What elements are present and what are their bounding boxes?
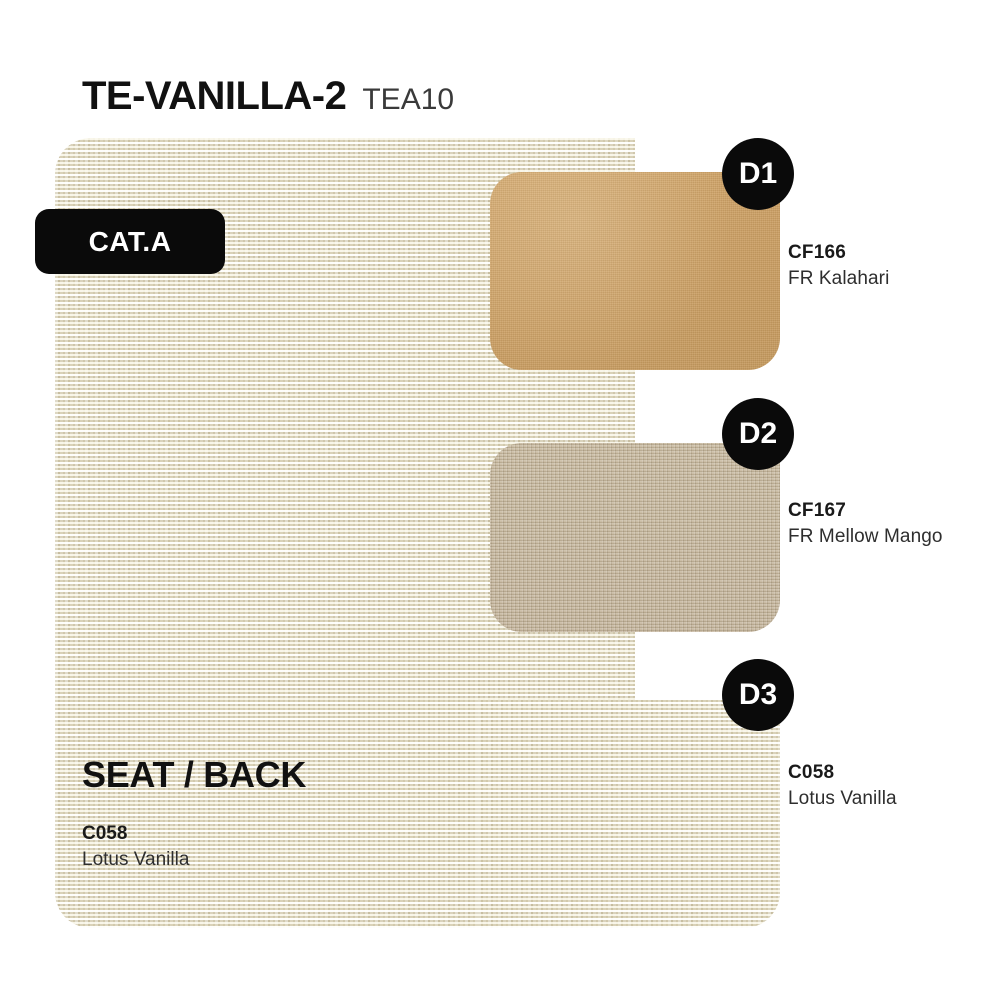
- swatch-d2-fabric[interactable]: [490, 443, 780, 632]
- swatch-d2-name: FR Mellow Mango: [788, 524, 943, 550]
- color-scheme-board: TE-VANILLA-2 TEA10 CAT.A D1 CF166 FR Kal…: [0, 0, 1000, 1000]
- swatch-d1-caption: CF166 FR Kalahari: [788, 240, 889, 291]
- swatch-d1-code: CF166: [788, 240, 889, 266]
- swatch-d3-code: C058: [788, 760, 897, 786]
- swatch-d2-code: CF167: [788, 498, 943, 524]
- seat-back-label-group: SEAT / BACK C058 Lotus Vanilla: [82, 755, 306, 874]
- swatch-d3-name: Lotus Vanilla: [788, 786, 897, 812]
- swatch-d1-name: FR Kalahari: [788, 266, 889, 292]
- swatch-d1-badge-label: D1: [739, 159, 777, 189]
- category-badge-label: CAT.A: [89, 226, 172, 258]
- scheme-code: TEA10: [362, 83, 454, 117]
- seat-back-material: C058 Lotus Vanilla: [82, 821, 306, 874]
- seat-back-material-code: C058: [82, 821, 306, 848]
- seat-back-material-name: Lotus Vanilla: [82, 847, 306, 874]
- swatch-d3-badge-label: D3: [739, 680, 777, 710]
- scheme-title: TE-VANILLA-2: [82, 74, 346, 119]
- swatch-d3-caption: C058 Lotus Vanilla: [788, 760, 897, 811]
- swatch-d3-fabric: [478, 700, 780, 928]
- swatch-d1-badge[interactable]: D1: [722, 138, 794, 210]
- swatch-d2-badge[interactable]: D2: [722, 398, 794, 470]
- seat-back-title: SEAT / BACK: [82, 755, 306, 795]
- swatch-d2-caption: CF167 FR Mellow Mango: [788, 498, 943, 549]
- swatch-d3-badge[interactable]: D3: [722, 659, 794, 731]
- swatch-d2-badge-label: D2: [739, 419, 777, 449]
- category-badge[interactable]: CAT.A: [35, 209, 225, 274]
- page-title: TE-VANILLA-2 TEA10: [82, 74, 454, 119]
